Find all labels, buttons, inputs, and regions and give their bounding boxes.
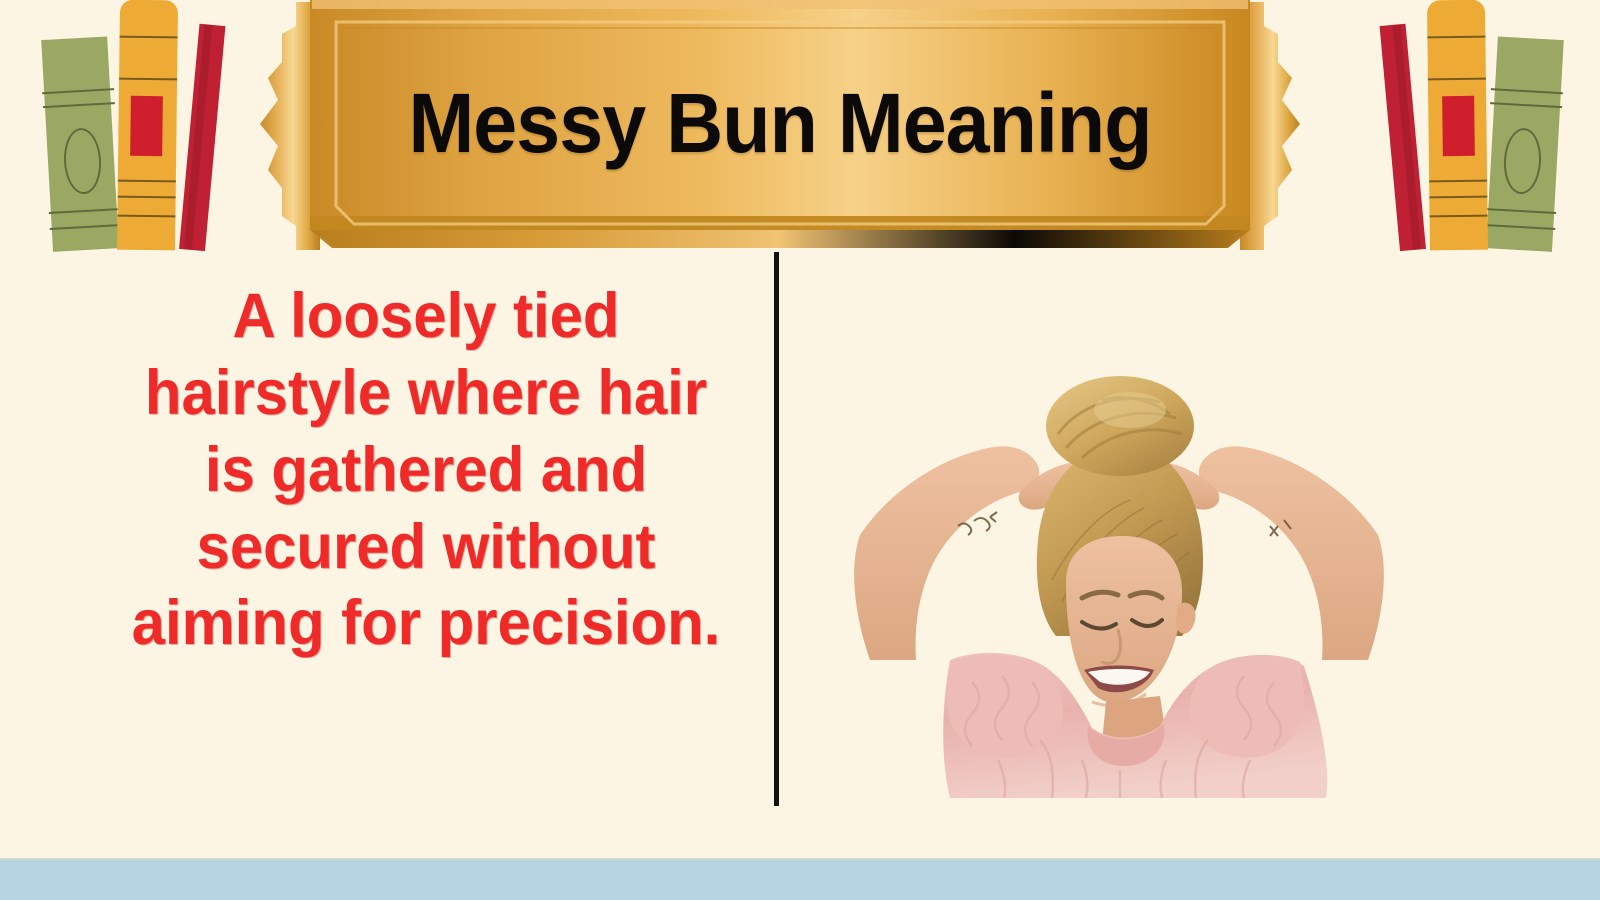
title-banner: Messy Bun Meaning xyxy=(260,0,1300,256)
book-band xyxy=(49,208,121,214)
book-band xyxy=(1430,215,1488,218)
book-band xyxy=(42,88,114,94)
book-shading xyxy=(184,24,212,250)
definition-text: A loosely tied hairstyle where hair is g… xyxy=(113,278,740,662)
book-band xyxy=(1484,208,1556,214)
book-band xyxy=(1490,102,1562,108)
book-oval-emblem xyxy=(1502,127,1543,195)
book-band xyxy=(50,224,122,230)
orange-book xyxy=(1427,0,1488,250)
books-decoration-right xyxy=(1330,0,1570,250)
green-book xyxy=(41,36,119,251)
book-band xyxy=(118,196,176,199)
vertical-divider xyxy=(774,252,779,806)
messy-bun-photo xyxy=(830,330,1408,808)
book-shading xyxy=(1393,24,1421,250)
orange-book xyxy=(117,0,178,250)
book-band xyxy=(1429,180,1487,183)
green-book xyxy=(1486,36,1564,251)
page-title: Messy Bun Meaning xyxy=(291,0,1269,246)
book-band xyxy=(117,215,175,218)
book-band xyxy=(1483,224,1555,230)
book-oval-emblem xyxy=(62,127,103,195)
bottom-accent-strip xyxy=(0,858,1600,900)
photo-illustration xyxy=(830,330,1408,808)
book-band xyxy=(119,78,177,81)
book-spine-label xyxy=(1442,96,1475,156)
book-band xyxy=(43,102,115,108)
infographic-canvas: Messy Bun Meaning A loosely tied hairsty… xyxy=(0,0,1600,900)
book-band xyxy=(1427,36,1485,39)
red-book xyxy=(1380,24,1426,251)
book-band xyxy=(1428,78,1486,81)
books-decoration-left xyxy=(35,0,275,250)
book-spine-label xyxy=(130,96,163,156)
book-band xyxy=(1429,196,1487,199)
book-band xyxy=(118,180,176,183)
book-band xyxy=(120,36,178,39)
red-book xyxy=(179,24,225,251)
book-band xyxy=(1491,88,1563,94)
